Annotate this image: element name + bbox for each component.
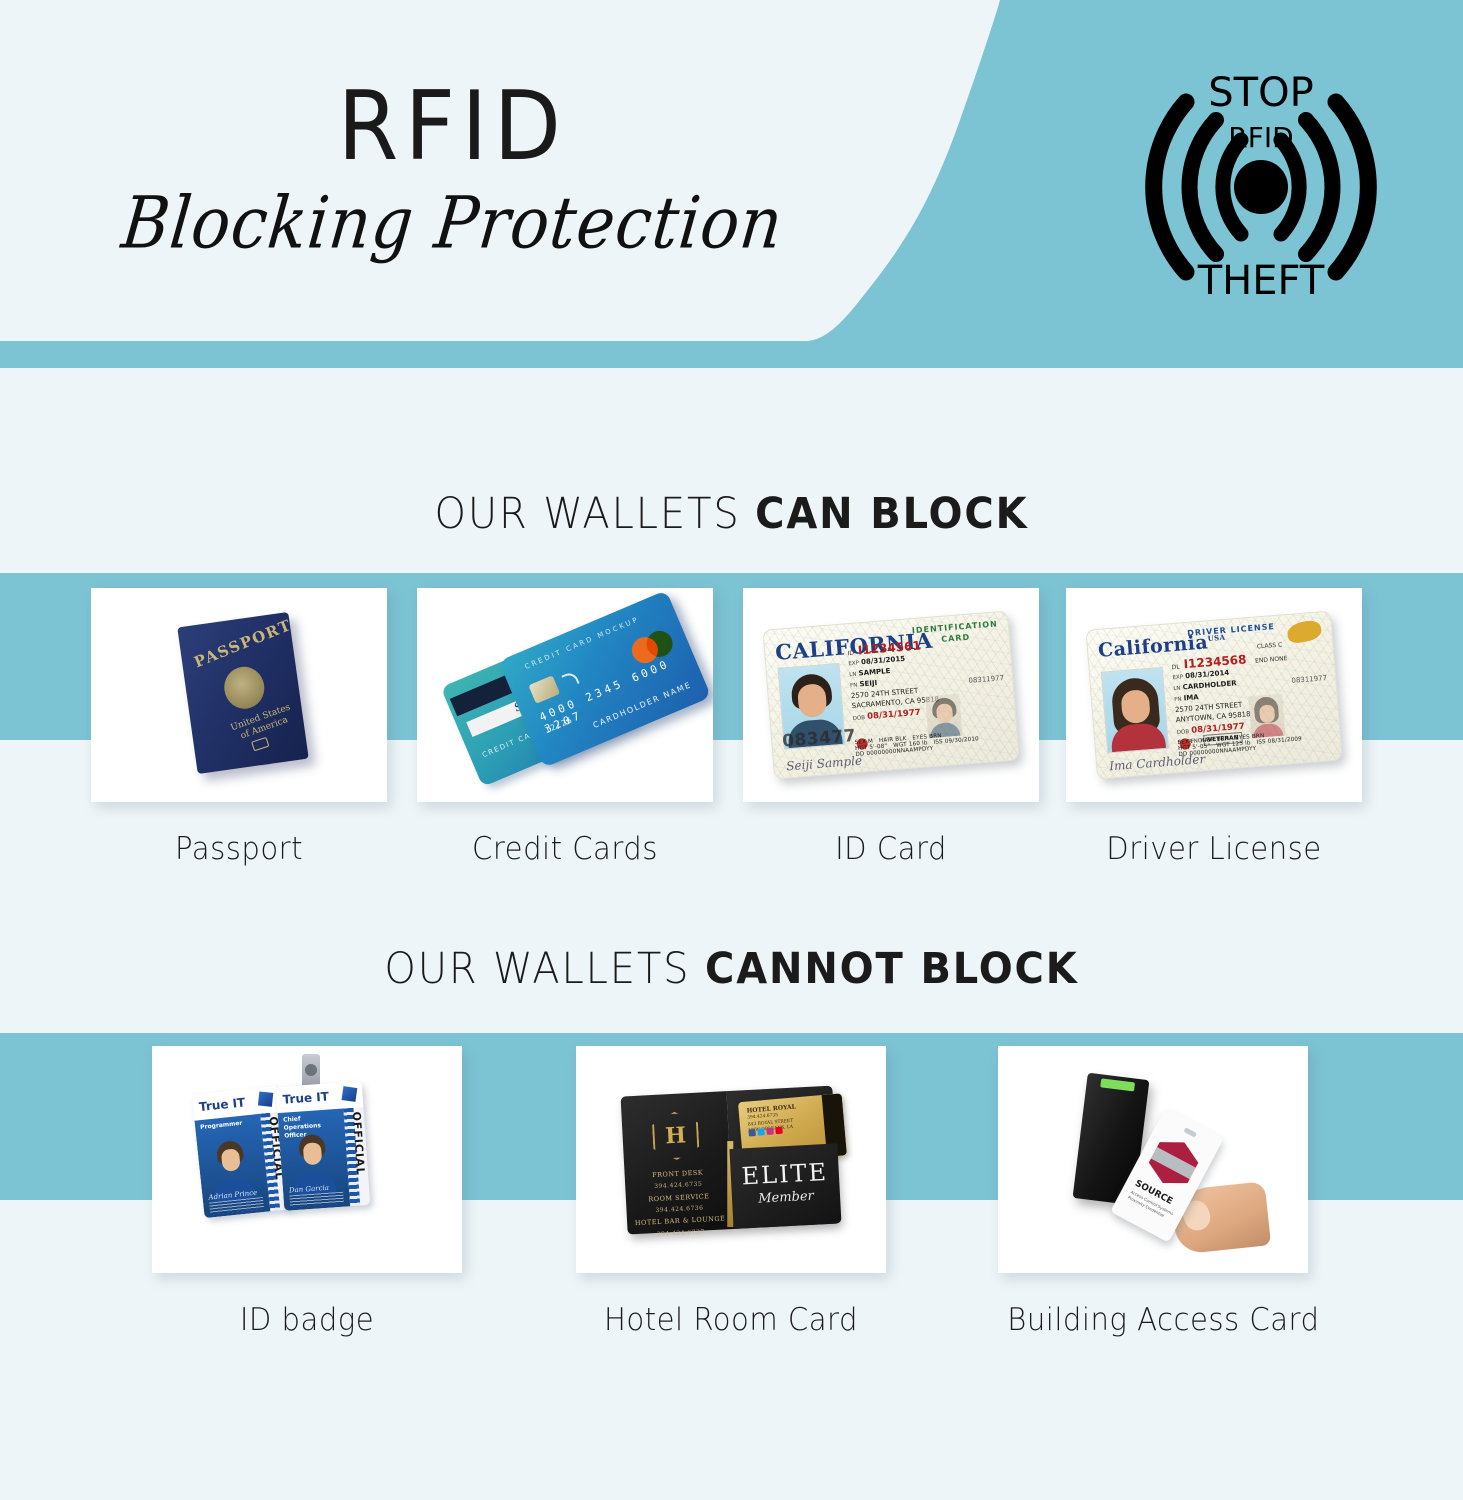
item-card-passport[interactable]: PASSPORT United States of America: [91, 588, 387, 802]
badge-logo-text: True IT: [198, 1095, 246, 1114]
caption-building-access-card: Building Access Card: [1007, 1302, 1298, 1338]
heading-bold-part: CANNOT BLOCK: [705, 944, 1079, 994]
driver-license-photo: CaliforniaUSA DRIVER LICENSE CLASS C END…: [1066, 588, 1362, 802]
badge-body: Programmer Adrian Prince: [194, 1114, 270, 1218]
header-title-block: RFID Blocking Protection: [0, 78, 905, 264]
twitter-icon: [757, 1128, 765, 1136]
card-mockup-text: CREDIT CARD MOCKUP: [524, 615, 641, 671]
stop-rfid-theft-icon: STOP RFID THEFT: [1128, 62, 1394, 312]
page-subtitle: Blocking Protection: [0, 179, 910, 269]
item-card-id-card[interactable]: CALIFORNIA IDENTIFICATION CARD 083477 Se…: [743, 588, 1039, 802]
badge-stop-text: STOP: [1208, 70, 1313, 116]
emv-chip-icon: [528, 675, 560, 704]
hotel-contact-info: FRONT DESK 394.424.6735 ROOM SERVICE 394…: [624, 1165, 734, 1242]
heading-thin-part: OUR WALLETS: [435, 489, 756, 539]
page-title: RFID: [36, 78, 869, 178]
caption-driver-license: Driver License: [1075, 831, 1353, 867]
passport-chip-icon: [251, 737, 269, 751]
badge-cube-icon: [258, 1091, 273, 1106]
badge-cube-icon: [342, 1086, 358, 1102]
reader-led-icon: [1100, 1078, 1135, 1091]
portrait-face: [797, 683, 828, 718]
badge-role-text: Programmer: [200, 1120, 243, 1132]
wallet-left-panel: H FRONT DESK 394.424.6735 ROOM SERVICE 3…: [621, 1091, 734, 1234]
heading-bold-part: CAN BLOCK: [755, 489, 1028, 539]
caption-id-badge: ID badge: [161, 1302, 452, 1338]
section-heading-cannot-block: OUR WALLETS CANNOT BLOCK: [51, 944, 1412, 994]
id-badge-one: True IT Programmer Adrian Prince OFFICIA…: [192, 1086, 290, 1218]
header-teal-strip: [0, 341, 1463, 368]
badge-rfid-text: RFID: [1228, 121, 1293, 154]
caption-passport: Passport: [100, 831, 378, 867]
id-badge-two: True IT Chief Operations Officer Dan Gar…: [276, 1081, 370, 1211]
hotel-monogram-hexagon-icon: H: [651, 1110, 699, 1160]
header-banner: RFID Blocking Protection STOP RFID THEFT: [0, 0, 1463, 368]
passport-cover-word: PASSPORT: [192, 616, 295, 672]
item-card-building-access-card[interactable]: SOURCE Access Control Systems Proximity …: [998, 1046, 1308, 1273]
ghost-face: [936, 703, 953, 723]
badge-theft-text: THEFT: [1197, 258, 1325, 304]
contactless-icon: [561, 670, 579, 688]
id-badge-photo: True IT Programmer Adrian Prince OFFICIA…: [152, 1046, 462, 1273]
heading-thin-part: OUR WALLETS: [384, 944, 705, 994]
item-card-hotel-room-card[interactable]: H FRONT DESK 394.424.6735 ROOM SERVICE 3…: [576, 1046, 886, 1273]
item-card-driver-license[interactable]: CaliforniaUSA DRIVER LICENSE CLASS C END…: [1066, 588, 1362, 802]
item-card-credit-cards[interactable]: Signature CREDIT CARD MOCKUP CREDIT CARD…: [417, 588, 713, 802]
item-card-id-badge[interactable]: True IT Programmer Adrian Prince OFFICIA…: [152, 1046, 462, 1273]
passport-photo: PASSPORT United States of America: [91, 588, 387, 802]
elite-text: ELITE: [730, 1157, 839, 1191]
passport-book: PASSPORT United States of America: [177, 612, 309, 774]
credit-cards-photo: Signature CREDIT CARD MOCKUP CREDIT CARD…: [417, 588, 713, 802]
building-access-photo: SOURCE Access Control Systems Proximity …: [998, 1046, 1308, 1273]
id-card-photo: CALIFORNIA IDENTIFICATION CARD 083477 Se…: [743, 588, 1039, 802]
badge-detail-lines: [289, 1192, 344, 1208]
pinterest-icon: [775, 1126, 783, 1134]
dl-portrait: [1101, 667, 1169, 754]
badge-logo-text: True IT: [282, 1089, 329, 1106]
keytag-slot-icon: [1183, 1127, 1197, 1138]
california-id-card: CALIFORNIA IDENTIFICATION CARD 083477 Se…: [762, 611, 1019, 780]
hotel-room-card-photo: H FRONT DESK 394.424.6735 ROOM SERVICE 3…: [576, 1046, 886, 1273]
keytag-hexagon-logo-icon: [1143, 1132, 1203, 1193]
instagram-icon: [766, 1127, 774, 1135]
hotel-monogram-letter: H: [654, 1112, 698, 1158]
california-driver-license: CaliforniaUSA DRIVER LICENSE CLASS C END…: [1085, 611, 1342, 780]
caption-hotel-room-card: Hotel Room Card: [585, 1302, 876, 1338]
facebook-icon: [748, 1128, 756, 1136]
badge-body: Chief Operations Officer Dan Garcia: [278, 1108, 351, 1210]
section-heading-can-block: OUR WALLETS CAN BLOCK: [51, 489, 1412, 539]
passport-seal-icon: [222, 664, 267, 711]
caption-id-card: ID Card: [752, 831, 1030, 867]
hotel-key-wallet: H FRONT DESK 394.424.6735 ROOM SERVICE 3…: [621, 1085, 842, 1234]
elite-member-pocket: ELITE Member: [729, 1143, 841, 1229]
caption-credit-cards: Credit Cards: [426, 831, 704, 867]
